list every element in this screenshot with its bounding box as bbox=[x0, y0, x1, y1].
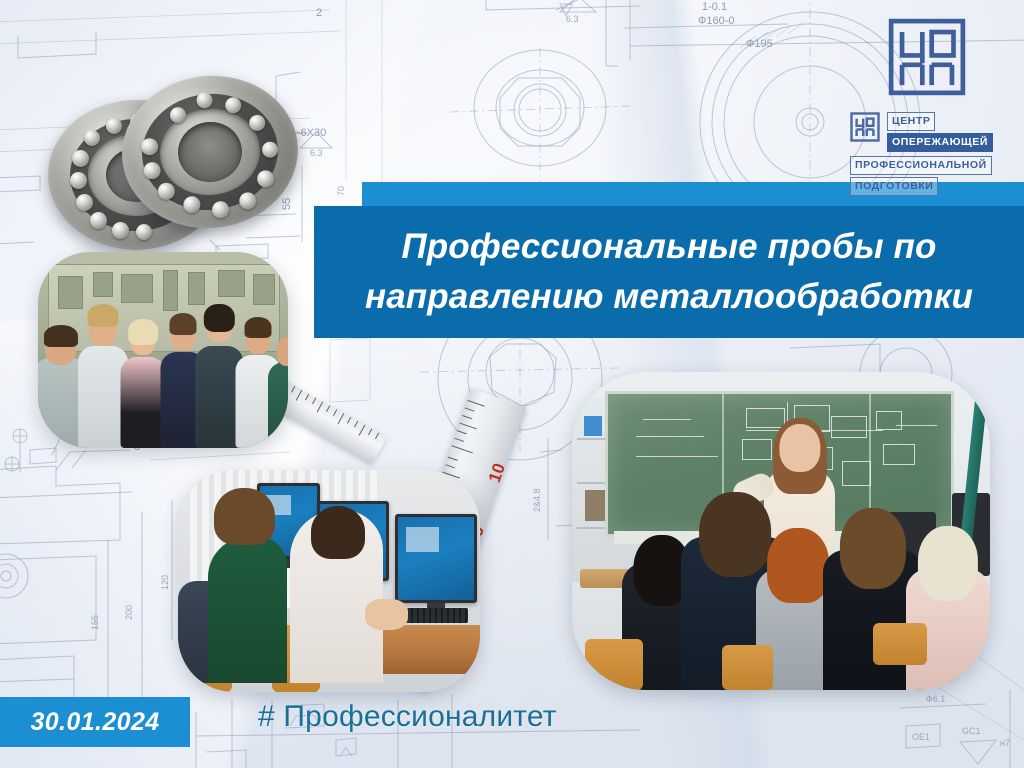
board-exhibit bbox=[218, 270, 245, 297]
photo-teacher-at-chalkboard bbox=[572, 372, 990, 690]
photo-students-in-workshop bbox=[38, 252, 288, 448]
svg-text:120: 120 bbox=[160, 575, 170, 590]
date-text: 30.01.2024 bbox=[30, 708, 159, 737]
svg-text:70: 70 bbox=[336, 186, 346, 196]
copp-monogram-icon bbox=[888, 18, 966, 96]
chair bbox=[873, 623, 927, 664]
student-green-sweater bbox=[208, 537, 287, 684]
monitor-screen-cnc bbox=[398, 517, 474, 600]
logo-line-2: ОПЕРЕЖАЮЩЕЙ bbox=[887, 133, 993, 152]
bearing-ball bbox=[136, 224, 152, 240]
photo-classroom-scene bbox=[572, 372, 990, 690]
photo-computer-classroom bbox=[178, 470, 480, 692]
chair bbox=[585, 639, 644, 690]
bearing-ball bbox=[90, 212, 107, 229]
hashtag-professionalitet: # Профессионалитет bbox=[258, 700, 557, 734]
student-head bbox=[214, 488, 274, 546]
bearing-ball bbox=[112, 222, 129, 239]
copp-monogram-small-icon bbox=[850, 112, 880, 142]
board-exhibit bbox=[188, 272, 205, 305]
chair bbox=[722, 645, 772, 690]
title-banner-text: Профессиональные пробы по направлению ме… bbox=[314, 206, 1024, 338]
logo-wordmark-tail: ПРОФЕССИОНАЛЬНОЙ ПОДГОТОВКИ bbox=[850, 156, 1002, 198]
photo-computers-scene bbox=[178, 470, 480, 692]
bearing-ball bbox=[70, 172, 87, 189]
copp-logo: ЦЕНТР ОПЕРЕЖАЮЩЕЙ ПРОФЕССИОНАЛЬНОЙ ПОДГО… bbox=[850, 18, 1002, 198]
teacher-head bbox=[779, 424, 820, 472]
board-exhibit bbox=[58, 276, 83, 309]
svg-text:6.3: 6.3 bbox=[566, 14, 579, 24]
bearing-ball bbox=[76, 194, 93, 211]
student-hand bbox=[365, 599, 407, 630]
svg-text:н7: н7 bbox=[1000, 738, 1010, 748]
bearing-ball bbox=[106, 118, 122, 134]
svg-text:200: 200 bbox=[124, 605, 134, 620]
svg-text:155: 155 bbox=[90, 615, 100, 630]
ball-bearing-photo bbox=[44, 64, 312, 254]
svg-text:Ф160-0: Ф160-0 bbox=[698, 15, 735, 27]
board-exhibit bbox=[121, 274, 153, 303]
title-line-1: Профессиональные пробы по bbox=[402, 222, 937, 272]
board-exhibit bbox=[93, 272, 113, 298]
bearing-ball bbox=[72, 150, 89, 167]
title-line-2: направлению металлообработки bbox=[365, 272, 973, 322]
monitor bbox=[395, 514, 477, 603]
date-badge: 30.01.2024 bbox=[0, 697, 190, 747]
svg-text:Ф6.1: Ф6.1 bbox=[926, 694, 945, 704]
title-banner: Профессиональные пробы по направлению ме… bbox=[314, 206, 1024, 338]
logo-line-1: ЦЕНТР bbox=[887, 112, 935, 131]
logo-line-3: ПРОФЕССИОНАЛЬНОЙ bbox=[850, 156, 992, 175]
svg-text:GC1: GC1 bbox=[962, 726, 981, 736]
svg-text:2: 2 bbox=[316, 7, 322, 19]
student-figure bbox=[121, 319, 166, 448]
photo-students-scene bbox=[38, 252, 288, 448]
bearing-ball bbox=[84, 130, 100, 146]
logo-wordmark: ЦЕНТР ОПЕРЕЖАЮЩЕЙ bbox=[887, 111, 993, 154]
svg-text:2&4.8: 2&4.8 bbox=[532, 488, 542, 512]
student-head bbox=[311, 506, 365, 559]
svg-text:ОЕ1: ОЕ1 bbox=[912, 732, 930, 742]
board-exhibit bbox=[163, 270, 178, 311]
poster-canvas: 2 4~6X30 6.3 55 70 6.3 1-0.1 Ф160-0 Ф195 bbox=[0, 0, 1024, 768]
svg-text:1-0.1: 1-0.1 bbox=[702, 1, 727, 13]
student-figure bbox=[268, 334, 288, 448]
board-exhibit bbox=[253, 274, 275, 305]
logo-line-4: ПОДГОТОВКИ bbox=[850, 177, 938, 196]
